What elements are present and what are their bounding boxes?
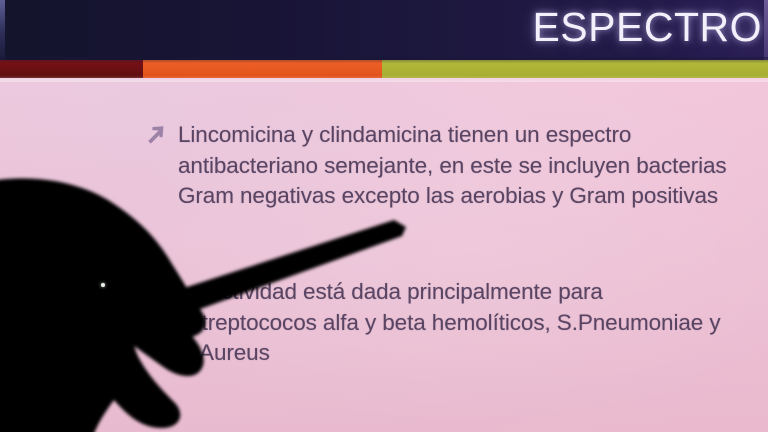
page-title: ESPECTRO <box>532 1 762 53</box>
arrow-northeast-icon <box>142 122 168 148</box>
slide-header-bar: ESPECTRO <box>0 0 768 62</box>
paragraph-2: La actividad está dada principalmente pa… <box>178 277 738 369</box>
accent-segment-dark-red <box>0 60 143 78</box>
accent-segment-orange <box>143 60 382 78</box>
paragraph-1: Lincomicina y clindamicina tienen un esp… <box>178 120 738 212</box>
accent-segment-olive <box>382 60 768 78</box>
accent-stripe <box>0 60 768 78</box>
pointer-highlight-glint <box>101 283 105 287</box>
slide-photo: ESPECTRO Lincomicina y clindamicina tien… <box>0 0 768 432</box>
